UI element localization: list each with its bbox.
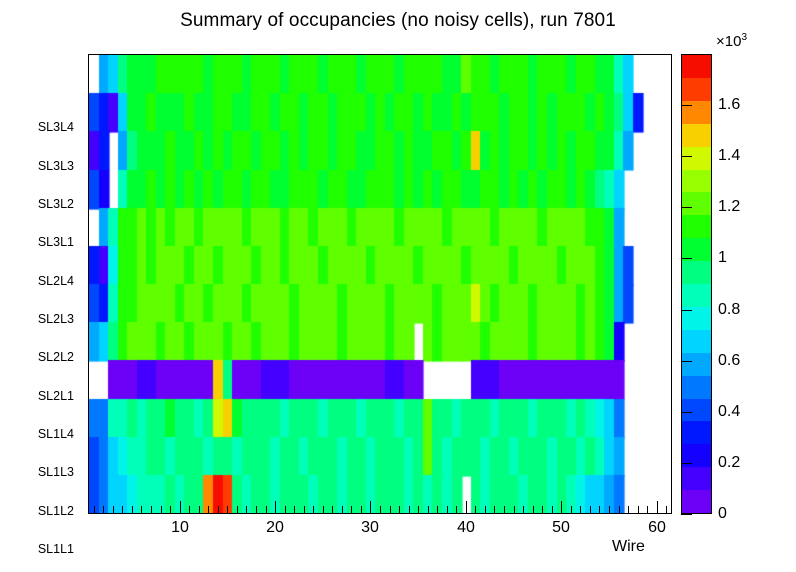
x-axis-tick-label-20: 20 <box>266 519 284 537</box>
x-axis-tick <box>542 506 543 513</box>
colorbar-tick-label-6: 1.2 <box>718 198 740 216</box>
x-axis-tick <box>380 506 381 513</box>
x-axis-tick-label-10: 10 <box>171 519 189 537</box>
colorbar-tick-label-0: 0 <box>718 505 727 523</box>
x-axis-tick <box>523 506 524 513</box>
y-axis-label-sl2l2: SL2L2 <box>38 350 74 364</box>
x-axis-tick <box>533 506 534 513</box>
colorbar-band <box>682 467 711 490</box>
colorbar-band <box>682 421 711 444</box>
colorbar-band <box>682 147 711 170</box>
x-axis-tick <box>390 506 391 513</box>
x-axis-tick <box>657 501 658 513</box>
x-axis-tick <box>246 506 247 513</box>
colorbar-band <box>682 376 711 399</box>
y-axis-label-sl3l3: SL3L3 <box>38 159 74 173</box>
colorbar-tick <box>681 105 692 106</box>
colorbar-tick-label-8: 1.6 <box>718 96 740 114</box>
x-axis-tick <box>590 506 591 513</box>
x-axis-tick <box>342 506 343 513</box>
x-axis-tick-label-30: 30 <box>361 519 379 537</box>
colorbar-tick-label-1: 0.2 <box>718 454 740 472</box>
x-axis-tick <box>141 506 142 513</box>
x-axis-tick <box>494 506 495 513</box>
colorbar-exponent: ×103 <box>716 32 747 50</box>
colorbar-tick-label-3: 0.6 <box>718 352 740 370</box>
x-axis-tick <box>571 506 572 513</box>
x-axis-tick <box>370 501 371 513</box>
x-axis-tick-label-60: 60 <box>648 519 666 537</box>
x-axis-tick <box>313 506 314 513</box>
colorbar-band <box>682 55 711 78</box>
x-axis-tick <box>361 506 362 513</box>
y-axis-label-sl2l4: SL2L4 <box>38 274 74 288</box>
x-axis-tick <box>332 506 333 513</box>
x-axis-tick-label-50: 50 <box>552 519 570 537</box>
y-axis-label-sl1l4: SL1L4 <box>38 427 74 441</box>
x-axis-tick <box>161 506 162 513</box>
x-axis-tick <box>151 506 152 513</box>
colorbar-tick <box>681 361 692 362</box>
x-axis-tick <box>619 506 620 513</box>
colorbar-tick <box>681 310 692 311</box>
y-axis-label-sl2l1: SL2L1 <box>38 389 74 403</box>
x-axis-tick <box>647 506 648 513</box>
y-axis-label-sl3l1: SL3L1 <box>38 235 74 249</box>
x-axis-tick <box>189 506 190 513</box>
x-axis-tick <box>294 506 295 513</box>
x-axis-tick <box>561 501 562 513</box>
x-axis-tick <box>351 506 352 513</box>
colorbar-band <box>682 124 711 147</box>
x-axis-tick <box>170 506 171 513</box>
colorbar-tick-label-5: 1 <box>718 249 727 267</box>
colorbar-exponent-power: 3 <box>741 32 747 43</box>
heatmap-canvas[interactable] <box>89 55 671 513</box>
x-axis-tick <box>237 506 238 513</box>
x-axis-tick <box>466 501 467 513</box>
colorbar-tick-label-2: 0.4 <box>718 403 740 421</box>
x-axis-tick <box>266 506 267 513</box>
y-axis-label-sl1l3: SL1L3 <box>38 465 74 479</box>
colorbar-tick <box>681 258 692 259</box>
x-axis-tick <box>666 506 667 513</box>
colorbar-band <box>682 261 711 284</box>
root-canvas: Summary of occupancies (no noisy cells),… <box>0 0 796 572</box>
x-axis-tick <box>580 506 581 513</box>
x-axis-tick <box>485 506 486 513</box>
colorbar-tick <box>681 156 692 157</box>
x-axis-tick <box>504 506 505 513</box>
colorbar-band <box>682 330 711 353</box>
colorbar-tick <box>681 412 692 413</box>
x-axis-tick <box>638 506 639 513</box>
colorbar-band <box>682 399 711 422</box>
y-axis-label-sl1l1: SL1L1 <box>38 542 74 556</box>
x-axis-tick <box>218 506 219 513</box>
x-axis-tick <box>113 506 114 513</box>
x-axis-tick <box>609 506 610 513</box>
y-axis-label-sl2l3: SL2L3 <box>38 312 74 326</box>
x-axis-tick <box>132 506 133 513</box>
colorbar-tick <box>681 514 692 515</box>
x-axis-tick <box>437 506 438 513</box>
x-axis-tick <box>428 506 429 513</box>
x-axis-tick <box>599 506 600 513</box>
x-axis-tick <box>180 501 181 513</box>
page-title: Summary of occupancies (no noisy cells),… <box>0 10 796 32</box>
colorbar-band <box>682 170 711 193</box>
colorbar-tick <box>681 463 692 464</box>
x-axis-tick <box>227 506 228 513</box>
colorbar-band <box>682 284 711 307</box>
x-axis-title: Wire <box>612 538 645 556</box>
x-axis-tick <box>304 506 305 513</box>
colorbar-exponent-base: ×10 <box>716 33 741 50</box>
heatmap-plot-area[interactable] <box>88 54 672 514</box>
colorbar-tick <box>681 207 692 208</box>
y-axis-labels: SL3L4SL3L3SL3L2SL3L1SL2L4SL2L3SL2L2SL2L1… <box>0 54 84 514</box>
x-axis-tick <box>552 506 553 513</box>
x-axis-tick <box>475 506 476 513</box>
colorbar-tick-label-4: 0.8 <box>718 301 740 319</box>
x-axis-tick <box>285 506 286 513</box>
x-axis-tick <box>628 506 629 513</box>
x-axis-tick <box>456 506 457 513</box>
x-axis-tick <box>256 506 257 513</box>
y-axis-label-sl3l2: SL3L2 <box>38 197 74 211</box>
colorbar-band <box>682 192 711 215</box>
x-axis-tick <box>103 506 104 513</box>
y-axis-label-sl3l4: SL3L4 <box>38 120 74 134</box>
x-axis-tick <box>418 506 419 513</box>
x-axis-tick <box>122 506 123 513</box>
colorbar[interactable] <box>681 54 712 514</box>
x-axis-tick <box>275 501 276 513</box>
x-axis-tick-label-40: 40 <box>457 519 475 537</box>
colorbar-band <box>682 353 711 376</box>
colorbar-band <box>682 215 711 238</box>
x-axis-tick <box>409 506 410 513</box>
x-axis-tick <box>514 506 515 513</box>
x-axis-tick <box>199 506 200 513</box>
colorbar-band <box>682 490 711 513</box>
x-axis-tick <box>323 506 324 513</box>
x-axis-tick <box>208 506 209 513</box>
x-axis-tick <box>399 506 400 513</box>
colorbar-band <box>682 78 711 101</box>
y-axis-label-sl1l2: SL1L2 <box>38 504 74 518</box>
x-axis-tick <box>94 506 95 513</box>
x-axis-tick <box>447 506 448 513</box>
colorbar-tick-label-7: 1.4 <box>718 147 740 165</box>
